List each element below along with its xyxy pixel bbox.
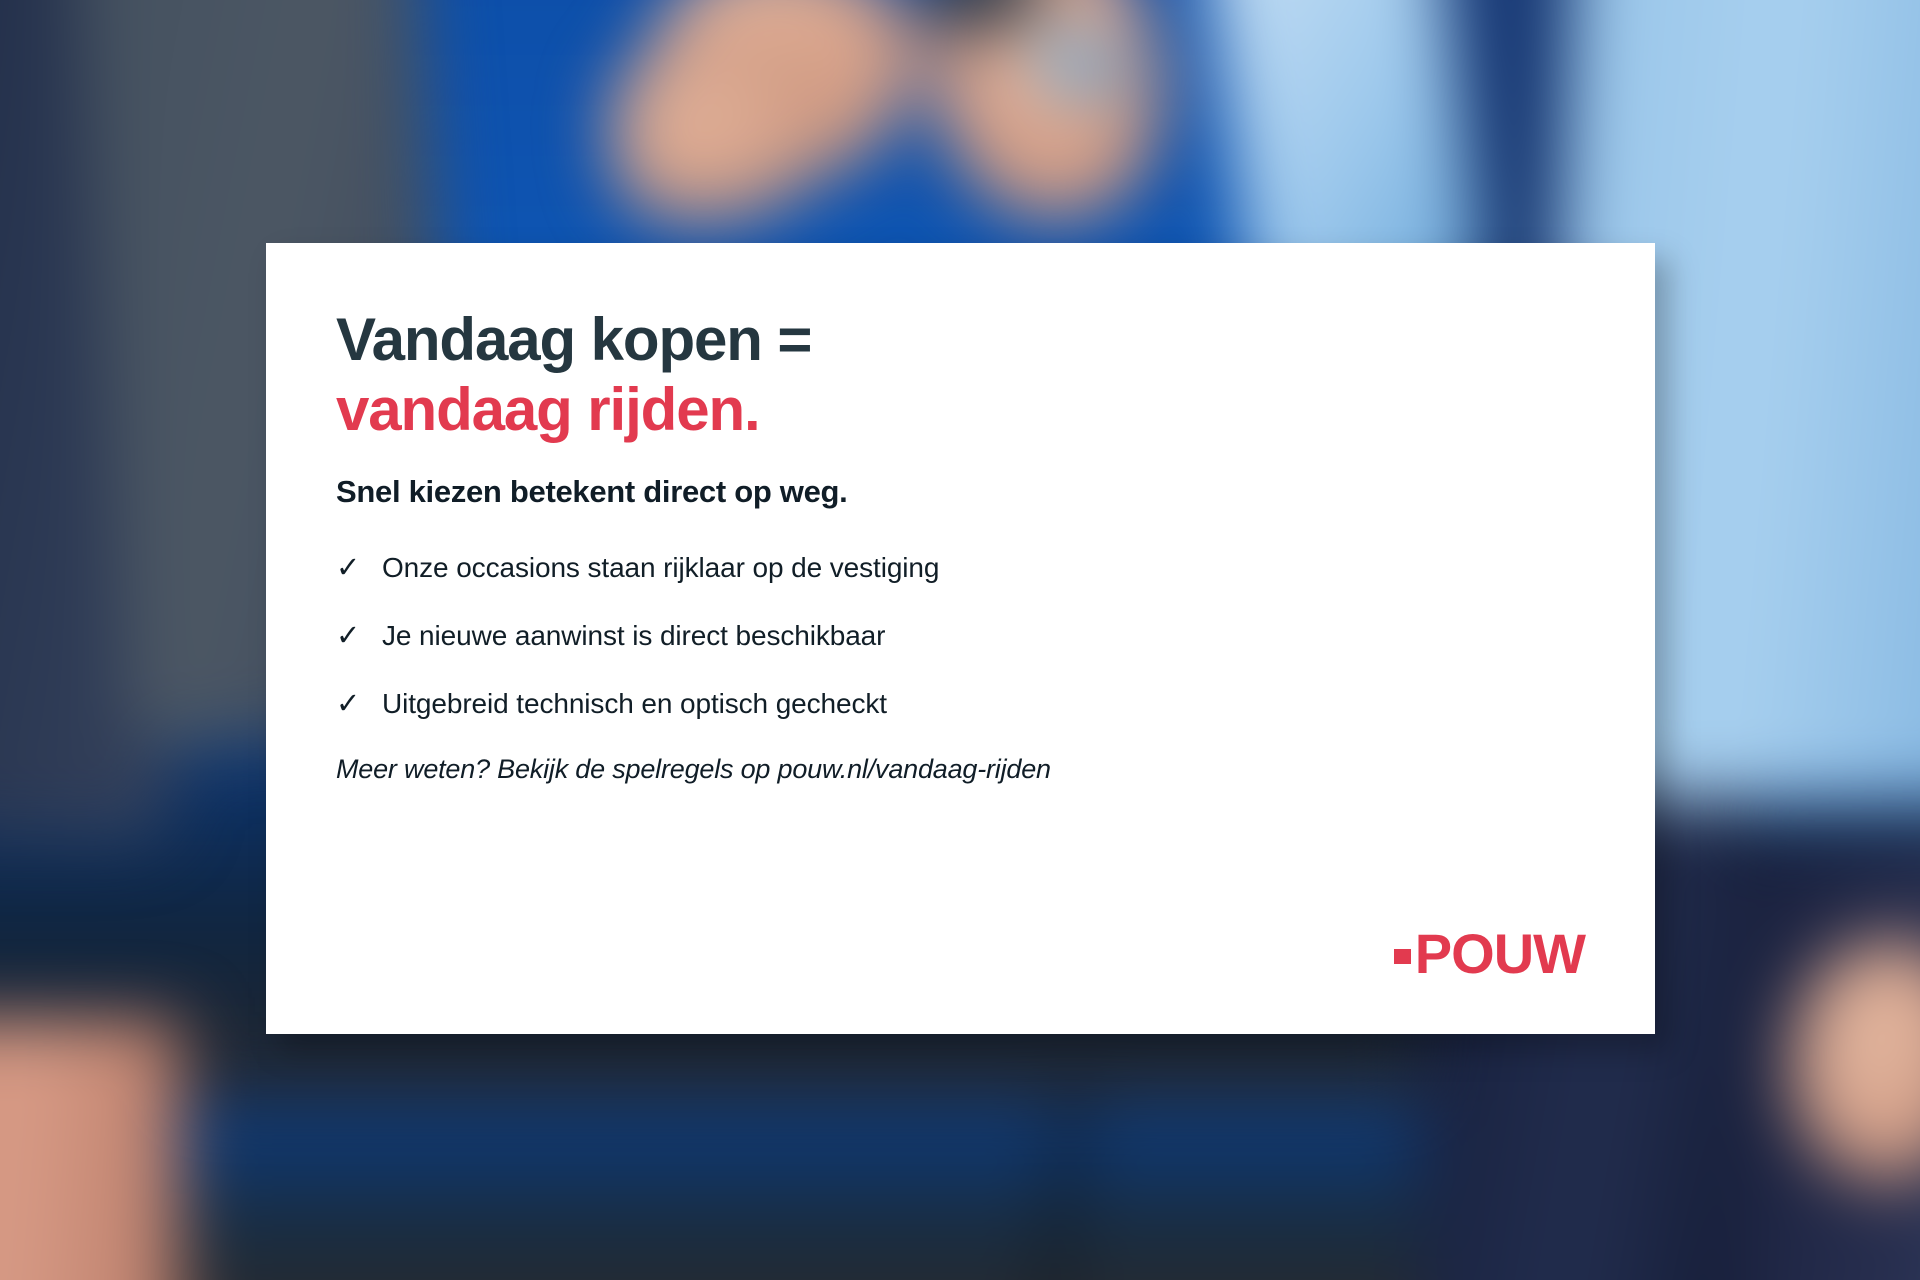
pouw-logo[interactable]: POUW bbox=[1394, 926, 1585, 982]
list-item-label: Je nieuwe aanwinst is direct beschikbaar bbox=[382, 620, 885, 652]
list-item-label: Onze occasions staan rijklaar op de vest… bbox=[382, 552, 939, 584]
subheading: Snel kiezen betekent direct op weg. bbox=[336, 474, 1585, 510]
list-item: ✓ Je nieuwe aanwinst is direct beschikba… bbox=[336, 618, 1585, 653]
promo-card: Vandaag kopen = vandaag rijden. Snel kie… bbox=[266, 243, 1655, 1034]
headline-line-1: Vandaag kopen = bbox=[336, 305, 1585, 375]
benefits-checklist: ✓ Onze occasions staan rijklaar op de ve… bbox=[336, 550, 1585, 721]
list-item: ✓ Onze occasions staan rijklaar op de ve… bbox=[336, 550, 1585, 585]
background-left-person-trousers bbox=[0, 1020, 180, 1280]
headline-line-2: vandaag rijden. bbox=[336, 375, 1585, 445]
list-item: ✓ Uitgebreid technisch en optisch gechec… bbox=[336, 686, 1585, 721]
check-icon: ✓ bbox=[336, 686, 382, 721]
check-icon: ✓ bbox=[336, 618, 382, 653]
check-icon: ✓ bbox=[336, 550, 382, 585]
headline: Vandaag kopen = vandaag rijden. bbox=[336, 305, 1585, 444]
footnote-link-text[interactable]: Meer weten? Bekijk de spelregels op pouw… bbox=[336, 754, 1585, 785]
logo-dash-icon bbox=[1394, 949, 1411, 964]
list-item-label: Uitgebreid technisch en optisch gecheckt bbox=[382, 688, 887, 720]
logo-wordmark: POUW bbox=[1415, 926, 1585, 982]
